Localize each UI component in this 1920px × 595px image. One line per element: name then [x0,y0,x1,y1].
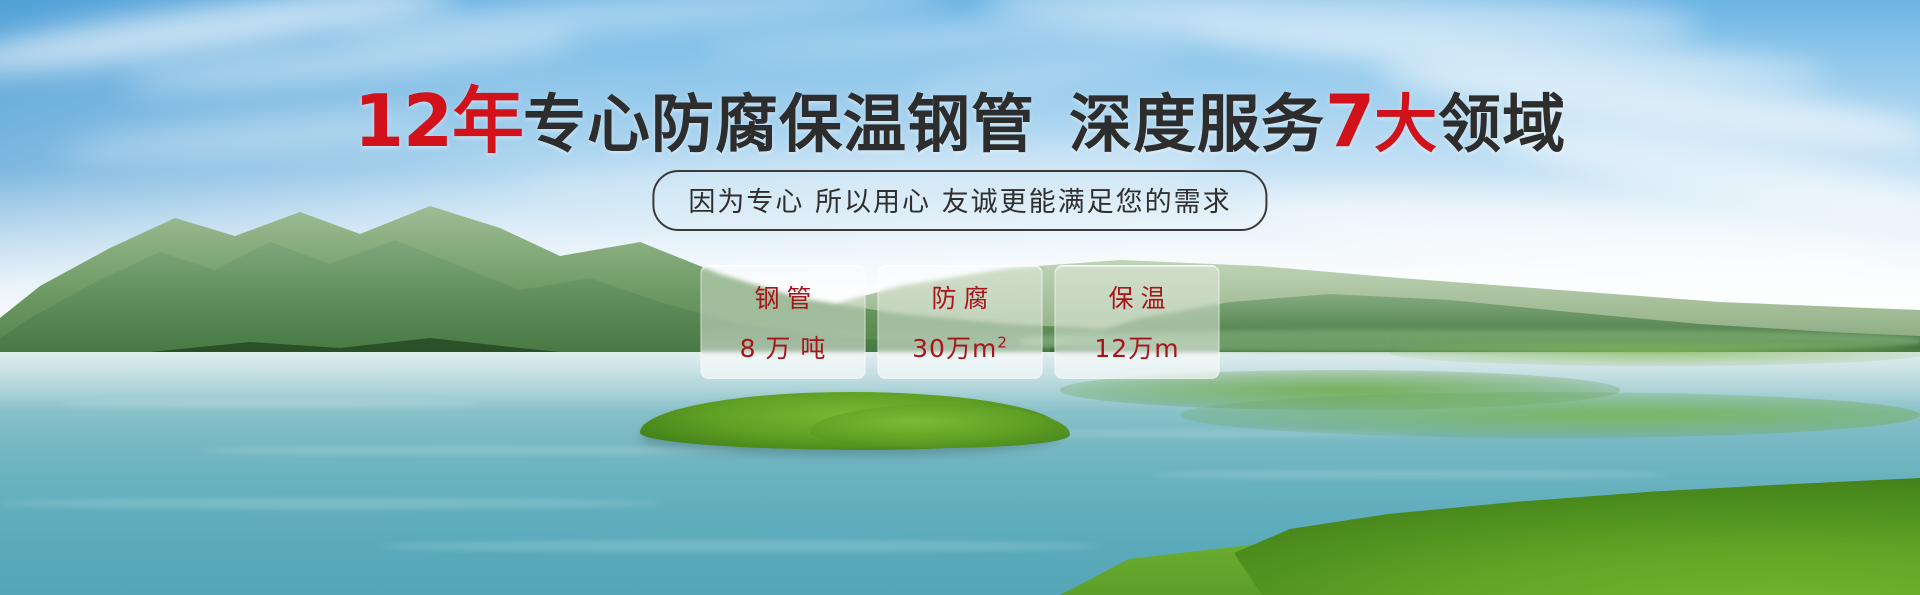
banner-headline: 12年专心防腐保温钢管深度服务7大领域 [0,84,1920,160]
stat-card-label: 钢管 [747,279,818,315]
headline-field-text: 领域 [1438,88,1566,161]
banner-subtitle-pill: 因为专心 所以用心 友诚更能满足您的需求 [652,170,1267,231]
stat-card-value: 30万m2 [912,329,1008,365]
stat-card-label: 保温 [1101,279,1172,315]
banner-content: 12年专心防腐保温钢管深度服务7大领域 因为专心 所以用心 友诚更能满足您的需求… [0,0,1920,595]
stat-value-superscript: 2 [997,334,1008,352]
stat-card-label: 防腐 [924,279,995,315]
headline-service-text: 深度服务 [1069,88,1325,161]
headline-field-unit: 大 [1374,88,1438,161]
headline-field-count: 7 [1325,79,1374,163]
stat-card-value: 8 万 吨 [740,329,827,365]
stat-card-steel-pipe: 钢管 8 万 吨 [701,265,866,379]
stat-value-text: 8 万 吨 [740,334,827,363]
headline-main-text: 专心防腐保温钢管 [523,88,1035,161]
headline-years: 12年 [354,79,523,163]
stats-card-group: 钢管 8 万 吨 防腐 30万m2 保温 12万m [701,265,1220,379]
stat-card-insulation: 保温 12万m [1055,265,1220,379]
stat-card-value: 12万m [1094,329,1179,365]
stat-card-anticorrosion: 防腐 30万m2 [878,265,1043,379]
stat-value-text: 12万m [1094,334,1179,363]
stat-value-text: 30万m [912,334,997,363]
hero-banner: 12年专心防腐保温钢管深度服务7大领域 因为专心 所以用心 友诚更能满足您的需求… [0,0,1920,595]
